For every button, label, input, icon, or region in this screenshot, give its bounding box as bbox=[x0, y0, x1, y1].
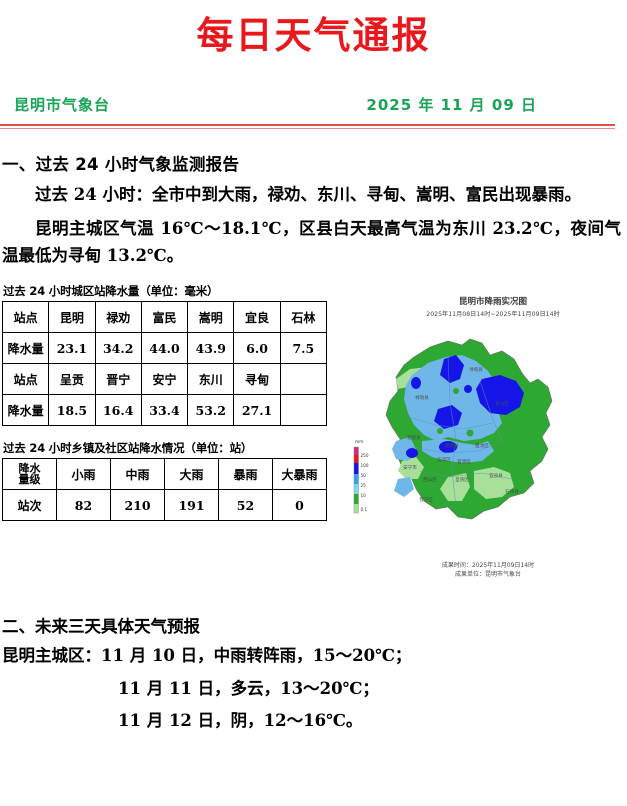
map-zone-deep-blue-spot1 bbox=[411, 377, 421, 389]
table2-count-1: 210 bbox=[111, 490, 165, 521]
svg-text:250: 250 bbox=[361, 453, 369, 458]
rainfall-map-panel: 昆明市降雨实况图 2025年11月08日14时~2025年11月09日14时 bbox=[352, 289, 624, 579]
svg-text:100: 100 bbox=[361, 463, 369, 468]
table1-r2c4: 东川 bbox=[188, 364, 234, 395]
map-island-green-1 bbox=[453, 388, 459, 394]
svg-text:晋宁区: 晋宁区 bbox=[419, 496, 433, 503]
table1-r2c2: 晋宁 bbox=[95, 364, 141, 395]
table1-r3c1: 18.5 bbox=[49, 395, 95, 426]
table-row: 降水量 18.5 16.4 33.4 53.2 27.1 bbox=[3, 395, 327, 426]
svg-text:西山区: 西山区 bbox=[423, 476, 437, 483]
map-legend: mm 250 100 50 25 10 0.1 bbox=[354, 440, 369, 513]
table1-r0c6: 石林 bbox=[280, 302, 326, 333]
table2-grade-2: 大雨 bbox=[165, 459, 219, 490]
table2-count-3: 52 bbox=[219, 490, 273, 521]
table2-count-label: 站次 bbox=[3, 490, 57, 521]
table1-r3c5: 27.1 bbox=[234, 395, 280, 426]
divider-thin-line bbox=[0, 128, 615, 129]
table1-r2c0: 站点 bbox=[3, 364, 49, 395]
table1-r0c1: 昆明 bbox=[49, 302, 95, 333]
section1-heading: 一、过去 24 小时气象监测报告 bbox=[2, 151, 627, 175]
svg-text:富民县: 富民县 bbox=[407, 434, 421, 441]
table1-r3c2: 16.4 bbox=[95, 395, 141, 426]
forecast-line-0: 昆明主城区：11 月 10 日，中雨转阵雨，15～20℃； bbox=[2, 643, 627, 669]
section-monitoring-report: 一、过去 24 小时气象监测报告 过去 24 小时：全市中到大雨，禄劝、东川、寻… bbox=[0, 151, 627, 269]
svg-text:寻甸县: 寻甸县 bbox=[469, 366, 483, 373]
table1-r3c0: 降水量 bbox=[3, 395, 49, 426]
map-zone-deep-blue-spot4 bbox=[464, 385, 472, 393]
table-row: 站次 82 210 191 52 0 bbox=[3, 490, 327, 521]
table1-r3c3: 33.4 bbox=[141, 395, 187, 426]
forecast-line-1: 11 月 11 日，多云，13～20℃； bbox=[118, 676, 627, 702]
map-zone-deep-blue-spot3 bbox=[406, 448, 418, 458]
svg-text:mm: mm bbox=[355, 440, 364, 445]
table1-r1c4: 43.9 bbox=[188, 333, 234, 364]
svg-text:宜良县: 宜良县 bbox=[489, 472, 503, 479]
table2-grade-0: 小雨 bbox=[57, 459, 111, 490]
svg-text:官渡区: 官渡区 bbox=[457, 458, 471, 465]
table1-r2c6 bbox=[280, 364, 326, 395]
rainfall-map-graphic: 寻甸县 禄劝县 东川区 富民县 嵩明县 盘龙区 五华区 官渡区 西山区 呈贡区 … bbox=[352, 321, 624, 541]
table1-r2c1: 呈贡 bbox=[49, 364, 95, 395]
svg-text:石林县: 石林县 bbox=[505, 488, 519, 495]
issue-date: 2025 年 11 月 09 日 bbox=[366, 94, 537, 115]
svg-text:嵩明县: 嵩明县 bbox=[445, 443, 459, 449]
table-row: 站点 昆明 禄劝 富民 嵩明 宜良 石林 bbox=[3, 302, 327, 333]
issuing-organization: 昆明市气象台 bbox=[14, 94, 110, 115]
map-footer: 成果时间：2025年11月09日14时 成果单位：昆明市气象台 bbox=[352, 561, 624, 579]
table1-r0c3: 富民 bbox=[141, 302, 187, 333]
map-footer-unit: 成果单位：昆明市气象台 bbox=[352, 570, 624, 579]
table1-r1c5: 6.0 bbox=[234, 333, 280, 364]
map-title: 昆明市降雨实况图 bbox=[362, 295, 624, 307]
section2-heading: 二、未来三天具体天气预报 bbox=[2, 613, 627, 637]
svg-text:禄劝县: 禄劝县 bbox=[415, 394, 429, 401]
svg-text:安宁市: 安宁市 bbox=[403, 464, 417, 471]
map-zone-blue-sw bbox=[394, 477, 414, 497]
table2-caption: 过去 24 小时乡镇及社区站降水情况（单位：站） bbox=[3, 440, 332, 456]
svg-text:10: 10 bbox=[361, 493, 367, 498]
table1-caption: 过去 24 小时城区站降水量（单位：毫米） bbox=[3, 283, 332, 299]
svg-text:呈贡区: 呈贡区 bbox=[455, 477, 469, 483]
map-footer-time: 成果时间：2025年11月09日14时 bbox=[352, 561, 624, 570]
table1-r1c1: 23.1 bbox=[49, 333, 95, 364]
table-row: 降水 量级 小雨 中雨 大雨 暴雨 大暴雨 bbox=[3, 459, 327, 490]
table1-r0c4: 嵩明 bbox=[188, 302, 234, 333]
table1-r0c2: 禄劝 bbox=[95, 302, 141, 333]
table1-r3c4: 53.2 bbox=[188, 395, 234, 426]
table-row: 站点 呈贡 晋宁 安宁 东川 寻甸 bbox=[3, 364, 327, 395]
svg-text:25: 25 bbox=[361, 483, 367, 488]
map-island-green-2 bbox=[437, 428, 443, 434]
table1-r0c0: 站点 bbox=[3, 302, 49, 333]
table2-grade-4: 大暴雨 bbox=[273, 459, 327, 490]
table1-r0c5: 宜良 bbox=[234, 302, 280, 333]
section1-paragraph-2: 昆明主城区气温 16℃～18.1℃，区县白天最高气温为东川 23.2℃，夜间气温… bbox=[2, 216, 621, 269]
table2-count-2: 191 bbox=[165, 490, 219, 521]
table1-r2c5: 寻甸 bbox=[234, 364, 280, 395]
table1-r3c6 bbox=[280, 395, 326, 426]
svg-text:五华区: 五华区 bbox=[437, 456, 451, 463]
map-island-green-3 bbox=[467, 430, 474, 437]
table1-r1c2: 34.2 bbox=[95, 333, 141, 364]
svg-text:0.1: 0.1 bbox=[361, 507, 368, 512]
map-subtitle: 2025年11月08日14时~2025年11月09日14时 bbox=[362, 309, 624, 318]
section-forecast: 二、未来三天具体天气预报 昆明主城区：11 月 10 日，中雨转阵雨，15～20… bbox=[0, 613, 627, 734]
table1-r1c3: 44.0 bbox=[141, 333, 187, 364]
header-divider bbox=[0, 124, 615, 129]
masthead: 每日天气通报 昆明市气象台 2025 年 11 月 09 日 bbox=[0, 0, 627, 129]
table2-grade-3: 暴雨 bbox=[219, 459, 273, 490]
table1-r1c6: 7.5 bbox=[280, 333, 326, 364]
table2-count-4: 0 bbox=[273, 490, 327, 521]
table-row: 降水量 23.1 34.2 44.0 43.9 6.0 7.5 bbox=[3, 333, 327, 364]
data-and-map-row: 过去 24 小时城区站降水量（单位：毫米） 站点 昆明 禄劝 富民 嵩明 宜良 … bbox=[0, 283, 627, 603]
township-rainfall-grade-table: 降水 量级 小雨 中雨 大雨 暴雨 大暴雨 站次 82 210 191 52 0 bbox=[2, 458, 327, 521]
issuer-row: 昆明市气象台 2025 年 11 月 09 日 bbox=[14, 94, 607, 115]
table2-grade-1: 中雨 bbox=[111, 459, 165, 490]
urban-station-rainfall-table: 站点 昆明 禄劝 富民 嵩明 宜良 石林 降水量 23.1 34.2 44.0 … bbox=[2, 301, 327, 426]
svg-text:盘龙区: 盘龙区 bbox=[475, 442, 489, 449]
tables-column: 过去 24 小时城区站降水量（单位：毫米） 站点 昆明 禄劝 富民 嵩明 宜良 … bbox=[2, 283, 332, 521]
forecast-line-2: 11 月 12 日，阴，12～16℃。 bbox=[118, 708, 627, 734]
page-title: 每日天气通报 bbox=[0, 12, 627, 58]
table2-header-line2: 量级 bbox=[19, 473, 41, 486]
table1-r1c0: 降水量 bbox=[3, 333, 49, 364]
table2-header-label: 降水 量级 bbox=[3, 459, 57, 490]
table1-r2c3: 安宁 bbox=[141, 364, 187, 395]
section1-paragraph-1: 过去 24 小时：全市中到大雨，禄劝、东川、寻甸、嵩明、富民出现暴雨。 bbox=[2, 182, 621, 209]
table2-count-0: 82 bbox=[57, 490, 111, 521]
svg-text:东川区: 东川区 bbox=[495, 400, 509, 407]
svg-text:50: 50 bbox=[361, 473, 367, 478]
